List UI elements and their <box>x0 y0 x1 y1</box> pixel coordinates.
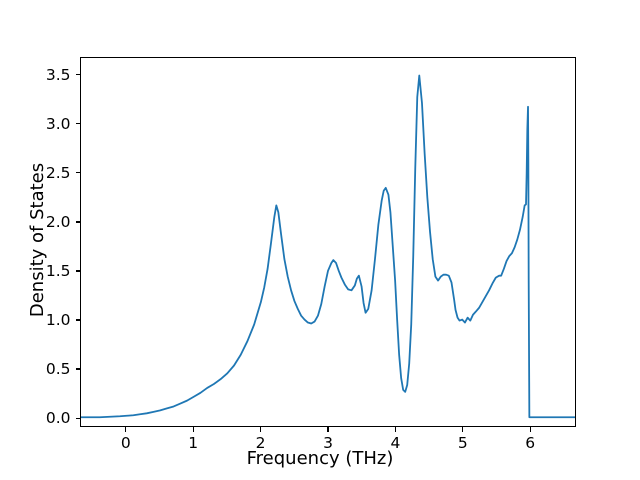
x-tick-mark <box>462 427 463 432</box>
x-tick-mark <box>395 427 396 432</box>
x-tick-mark <box>327 427 328 432</box>
dos-line-chart <box>81 58 575 426</box>
y-tick-mark <box>76 172 81 173</box>
dos-curve-line <box>81 76 575 418</box>
y-tick-mark <box>76 221 81 222</box>
y-tick-mark <box>76 319 81 320</box>
x-tick-mark <box>125 427 126 432</box>
y-tick-mark <box>76 123 81 124</box>
y-tick-mark <box>76 270 81 271</box>
plot-axes <box>80 57 576 427</box>
x-tick-mark <box>193 427 194 432</box>
y-tick-mark <box>76 368 81 369</box>
x-tick-mark <box>260 427 261 432</box>
y-tick-mark <box>76 418 81 419</box>
y-tick-mark <box>76 74 81 75</box>
y-axis-label: Density of States <box>28 0 48 480</box>
x-axis-label: Frequency (THz) <box>0 448 640 469</box>
figure-canvas: 0.00.51.01.52.02.53.03.5 0123456 Frequen… <box>0 0 640 480</box>
x-tick-mark <box>530 427 531 432</box>
